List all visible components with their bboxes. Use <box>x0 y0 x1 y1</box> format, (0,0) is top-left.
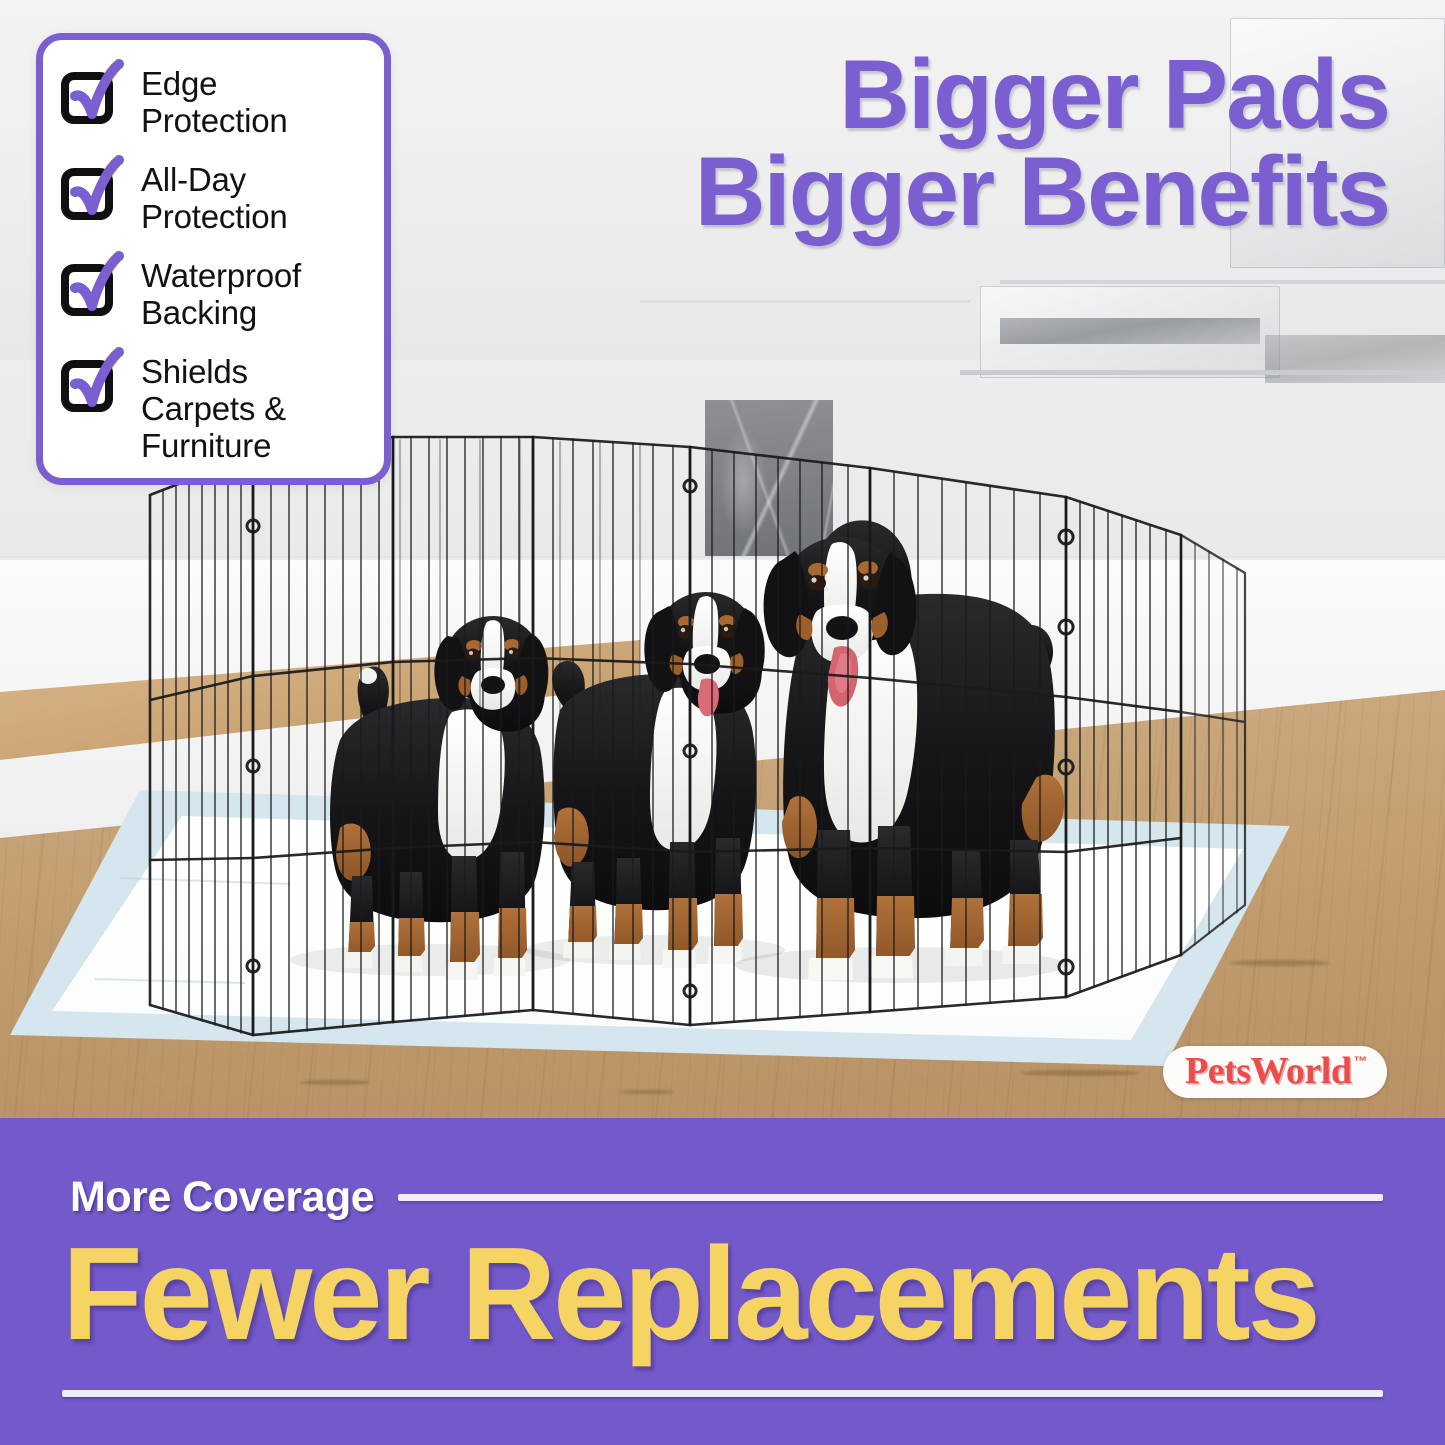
cabinet-line-2 <box>960 370 1445 375</box>
banner-headline-text: Fewer Replacements <box>62 1228 1405 1360</box>
product-photo: Edge Protection All-Day Protection <box>0 0 1445 1120</box>
banner-divider-top <box>398 1194 1383 1201</box>
brand-name: PetsWorld <box>1185 1052 1351 1090</box>
product-banner: Edge Protection All-Day Protection <box>0 0 1445 1445</box>
cabinet-line-3 <box>1000 280 1445 284</box>
checkbox-checked-icon <box>61 164 123 222</box>
checkbox-checked-icon <box>61 356 123 414</box>
feature-item-edge-protection: Edge Protection <box>61 66 368 140</box>
feature-item-all-day-protection: All-Day Protection <box>61 162 368 236</box>
feature-label: All-Day Protection <box>141 162 351 236</box>
cabinet-line-1 <box>640 300 970 303</box>
feature-item-shields-carpets-furniture: Shields Carpets & Furniture <box>61 354 368 465</box>
feature-label: Edge Protection <box>141 66 351 140</box>
banner-kicker-row: More Coverage <box>70 1173 1383 1222</box>
cabinet-shadow-2 <box>1265 335 1445 383</box>
bottom-banner: More Coverage Fewer Replacements <box>0 1118 1445 1445</box>
banner-divider-bottom <box>62 1390 1383 1397</box>
feature-list-card: Edge Protection All-Day Protection <box>36 33 391 485</box>
banner-kicker-text: More Coverage <box>70 1173 374 1222</box>
checkbox-checked-icon <box>61 260 123 318</box>
headline-line-1: Bigger Pads <box>695 46 1389 143</box>
headline-line-2: Bigger Benefits <box>695 143 1389 240</box>
trademark-symbol: ™ <box>1353 1054 1367 1068</box>
petsworld-logo: PetsWorld ™ <box>1163 1046 1387 1098</box>
cabinet-shadow-1 <box>1000 318 1260 344</box>
headline: Bigger Pads Bigger Benefits <box>695 46 1389 240</box>
feature-label: Waterproof Backing <box>141 258 351 332</box>
feature-label: Shields Carpets & Furniture <box>141 354 351 465</box>
feature-item-waterproof-backing: Waterproof Backing <box>61 258 368 332</box>
checkbox-checked-icon <box>61 68 123 126</box>
